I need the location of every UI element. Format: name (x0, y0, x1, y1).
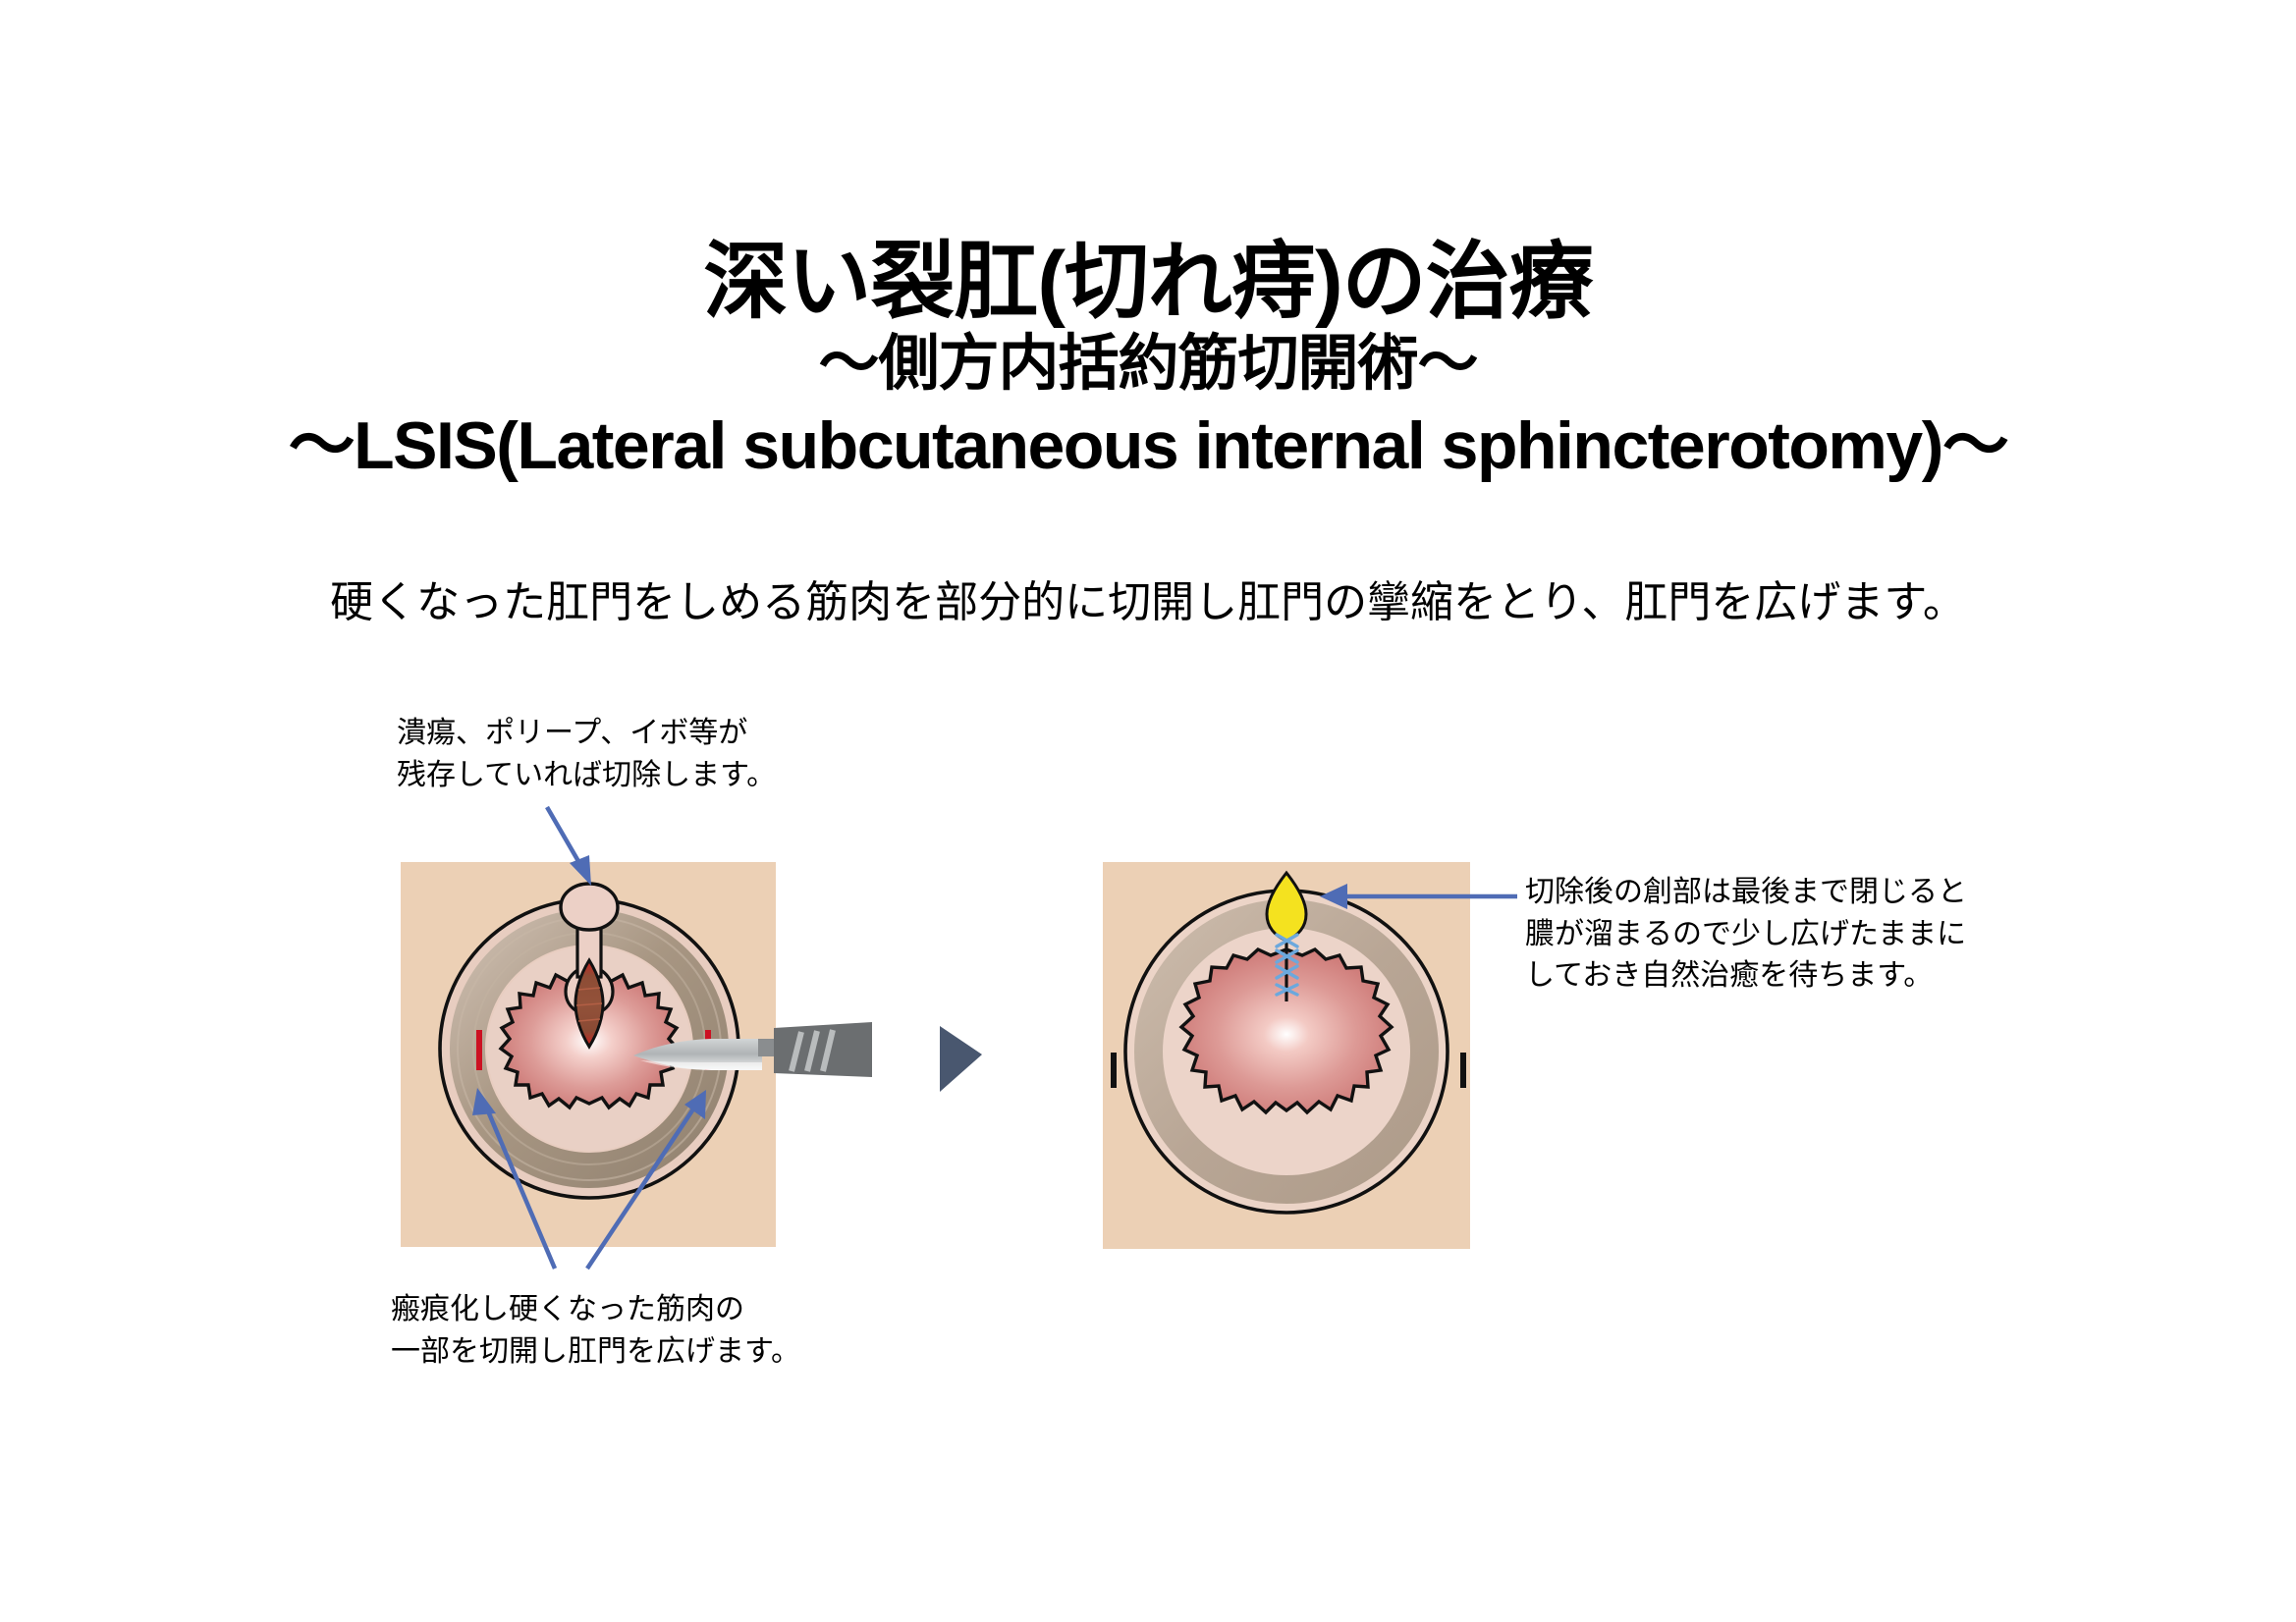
lead-description: 硬くなった肛門をしめる筋肉を部分的に切開し肛門の攣縮をとり、肛門を広げます。 (0, 577, 2296, 629)
figure-after-panel (1103, 862, 1470, 1249)
scalpel-handle-stripe-1 (792, 1032, 801, 1071)
annotation-sphincterotomy-note: 瘢痕化し硬くなった筋肉の 一部を切開し肛門を広げます。 (391, 1289, 800, 1373)
page-subtitle-english: 〜LSIS(Lateral subcutaneous internal sphi… (0, 411, 2296, 481)
flow-arrow-icon (940, 1026, 982, 1092)
page-title: 深い裂肛(切れ痔)の治療 (0, 240, 2296, 326)
scalpel-handle-stripe-2 (807, 1031, 817, 1071)
annotation-open-wound-note: 切除後の創部は最後まで閉じると 膿が溜まるので少し広げたままに しておき自然治癒… (1525, 872, 1967, 998)
page-subtitle: 〜側方内括約筋切開術〜 (0, 332, 2296, 396)
figure-before-panel (401, 862, 776, 1247)
annotation-excision-note: 潰瘍、ポリープ、イボ等が 残存していれば切除します。 (397, 713, 776, 796)
scalpel-handle (774, 1022, 872, 1077)
title-block: 深い裂肛(切れ痔)の治療 〜側方内括約筋切開術〜 〜LSIS(Lateral s… (0, 240, 2296, 481)
scalpel-handle-stripe-3 (823, 1030, 833, 1071)
